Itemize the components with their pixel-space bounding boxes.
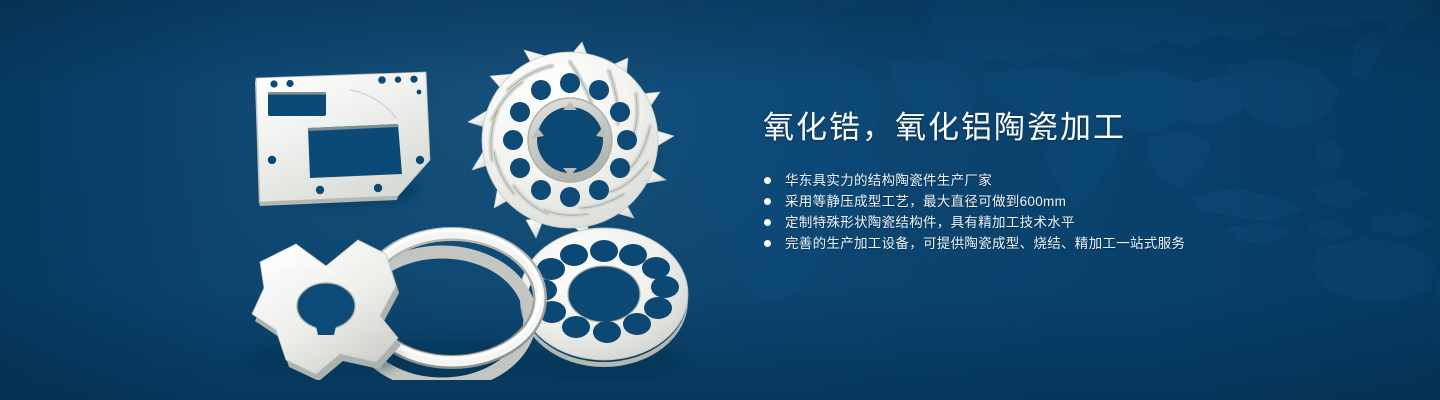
list-item: 华东具实力的结构陶瓷件生产厂家 bbox=[763, 170, 1383, 191]
bullet-dot-icon bbox=[764, 219, 771, 226]
banner-copy: 氧化锆，氧化铝陶瓷加工 华东具实力的结构陶瓷件生产厂家 采用等静压成型工艺，最大… bbox=[763, 108, 1383, 254]
list-item: 完善的生产加工设备，可提供陶瓷成型、烧结、精加工一站式服务 bbox=[763, 233, 1383, 254]
banner-headline: 氧化锆，氧化铝陶瓷加工 bbox=[763, 108, 1383, 148]
ceramic-products-image bbox=[230, 30, 720, 380]
list-item-label: 完善的生产加工设备，可提供陶瓷成型、烧结、精加工一站式服务 bbox=[785, 236, 1185, 251]
promo-banner: 氧化锆，氧化铝陶瓷加工 华东具实力的结构陶瓷件生产厂家 采用等静压成型工艺，最大… bbox=[0, 0, 1440, 400]
banner-feature-list: 华东具实力的结构陶瓷件生产厂家 采用等静压成型工艺，最大直径可做到600mm 定… bbox=[763, 170, 1383, 254]
bullet-dot-icon bbox=[764, 177, 771, 184]
ceramic-plate-part bbox=[255, 72, 430, 206]
ceramic-impeller-part bbox=[468, 42, 674, 238]
bullet-dot-icon bbox=[764, 198, 771, 205]
bullet-dot-icon bbox=[764, 240, 771, 247]
ceramic-cross-part bbox=[246, 240, 402, 380]
list-item: 定制特殊形状陶瓷结构件，具有精加工技术水平 bbox=[763, 212, 1383, 233]
list-item-label: 采用等静压成型工艺，最大直径可做到600mm bbox=[785, 194, 1066, 209]
list-item-label: 定制特殊形状陶瓷结构件，具有精加工技术水平 bbox=[785, 215, 1075, 230]
list-item-label: 华东具实力的结构陶瓷件生产厂家 bbox=[785, 173, 992, 188]
list-item: 采用等静压成型工艺，最大直径可做到600mm bbox=[763, 191, 1383, 212]
